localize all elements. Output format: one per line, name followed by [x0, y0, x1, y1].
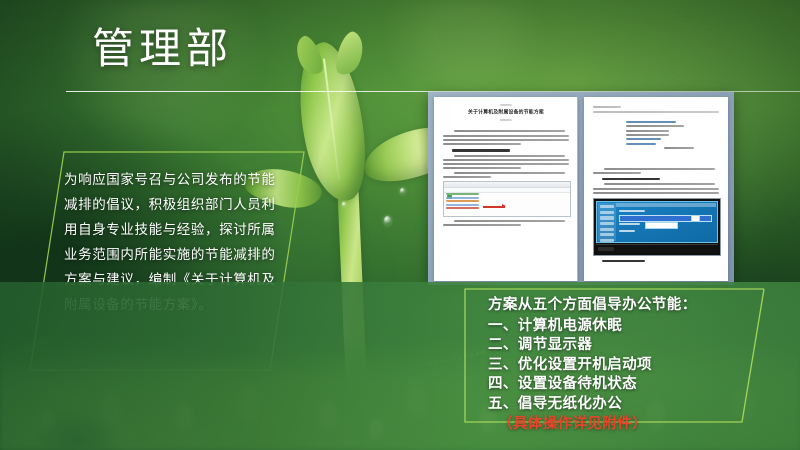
slide-canvas: 管理部 为响应国家号召与公司发布的节能减排的倡议，积极组织部门人员利用自身专业技… [0, 0, 800, 450]
explorer-row [446, 204, 479, 206]
document-pages: 关于计算机及附属设备的节能方案 [434, 97, 728, 281]
doc-text-line [443, 143, 521, 145]
doc-spacer [593, 151, 719, 158]
nav-item [600, 228, 614, 231]
nav-item [600, 239, 614, 242]
doc-text-line [443, 224, 521, 226]
nav-item [600, 211, 614, 214]
document-title-text: 关于计算机及附属设备的节能方案 [434, 109, 578, 116]
doc-text-line [443, 163, 569, 165]
summary-item-2: 二、调节显示器 [488, 336, 788, 356]
doc-text-line [593, 106, 621, 108]
summary-heading: 方案从五个方面倡导办公节能： [488, 296, 788, 316]
doc-text-line [604, 168, 715, 170]
doc-mark [500, 104, 513, 106]
settings-label [619, 230, 636, 232]
nav-item [600, 233, 614, 236]
doc-text-line [443, 159, 569, 161]
doc-text-line [626, 121, 676, 123]
doc-text-line [626, 125, 684, 127]
nav-item [600, 205, 614, 208]
summary-item-5: 五、倡导无纸化办公 [488, 395, 788, 415]
dew-drop [384, 216, 391, 225]
settings-label [619, 223, 641, 225]
doc-text-line [626, 134, 669, 136]
doc-mark [500, 119, 513, 121]
document-page-right-content [593, 104, 719, 275]
doc-text-line [454, 220, 565, 222]
explorer-row [446, 197, 479, 199]
taskbar [596, 244, 718, 253]
doc-text-line [454, 130, 565, 132]
summary-attachment-note: （具体操作详见附件） [498, 415, 788, 435]
summary-list: 方案从五个方面倡导办公节能： 一、计算机电源休眠 二、调节显示器 三、优化设置开… [488, 296, 788, 435]
explorer-row [446, 200, 479, 202]
page-title: 管理部 [92, 26, 233, 72]
nav-item [600, 216, 614, 219]
page-gutter [578, 97, 579, 281]
settings-label [619, 210, 645, 212]
doc-text-line [626, 138, 661, 140]
dew-drop [342, 202, 346, 207]
taskbar-button [598, 247, 614, 251]
doc-text-line [604, 183, 715, 185]
doc-text-line [593, 192, 719, 194]
explorer-row [446, 193, 479, 195]
document-page-right [584, 97, 728, 281]
settings-titlebar [616, 203, 716, 207]
doc-text-line [454, 155, 565, 157]
doc-section-heading [452, 149, 510, 151]
annotation-arrow-icon [483, 206, 505, 208]
doc-section-heading [602, 260, 645, 262]
doc-text-line [443, 176, 491, 178]
summary-item-4: 四、设置设备待机状态 [488, 375, 788, 395]
doc-text-line [443, 139, 569, 141]
document-page-left-content: 关于计算机及附属设备的节能方案 [443, 104, 569, 275]
settings-window [596, 201, 718, 243]
dew-drop [400, 188, 405, 194]
doc-text-line [593, 111, 719, 113]
doc-text-line [443, 167, 521, 169]
settings-checkbox [691, 215, 700, 222]
doc-text-line [593, 172, 641, 174]
doc-text-line [593, 188, 719, 190]
embedded-display-settings-screenshot [593, 198, 721, 256]
explorer-list [446, 193, 479, 214]
sprout-leaf-tip-right [331, 29, 370, 79]
nav-item [600, 222, 614, 225]
doc-text-line [454, 172, 565, 174]
settings-nav [598, 203, 616, 241]
settings-dropdown [645, 222, 678, 229]
embedded-explorer-screenshot [443, 181, 571, 217]
doc-spacer [593, 115, 719, 119]
document-page-left: 关于计算机及附属设备的节能方案 [434, 97, 578, 281]
document-preview-image[interactable]: 关于计算机及附属设备的节能方案 [428, 92, 734, 285]
doc-text-line [664, 147, 694, 149]
doc-text-line [626, 130, 669, 132]
summary-item-3: 三、优化设置开机启动项 [488, 356, 788, 376]
doc-spacer [593, 158, 719, 165]
explorer-row [446, 207, 479, 209]
doc-section-heading [602, 178, 660, 180]
doc-text-line [443, 135, 569, 137]
doc-spacer [443, 124, 569, 128]
summary-item-1: 一、计算机电源休眠 [488, 317, 788, 337]
doc-text-line [626, 143, 656, 145]
